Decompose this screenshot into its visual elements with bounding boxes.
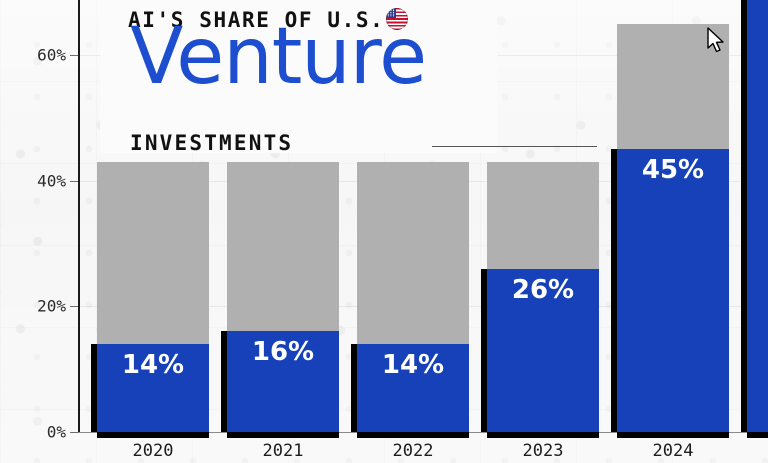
- x-axis-tick-label: 2020: [97, 441, 209, 461]
- title-underline-rule: [432, 146, 597, 147]
- bar-group[interactable]: 16%: [227, 162, 339, 432]
- bar-group[interactable]: 71%: [747, 0, 768, 432]
- bar-value-label: 45%: [617, 155, 729, 185]
- y-axis-line: [78, 0, 80, 433]
- bar-value-label: 14%: [357, 350, 469, 380]
- y-axis-tick-label: 20%: [37, 297, 66, 316]
- bar-value-label: 14%: [97, 350, 209, 380]
- bar-value-label: 16%: [227, 337, 339, 367]
- x-axis-tick-label: 2023: [487, 441, 599, 461]
- bar-ai-segment[interactable]: 14%: [97, 344, 209, 432]
- x-axis-tick-label: 2021: [227, 441, 339, 461]
- y-axis-tick-label: 0%: [47, 423, 66, 442]
- bar-ai-segment[interactable]: 45%: [617, 149, 729, 432]
- title-line-3: INVESTMENTS: [130, 131, 293, 155]
- chart-title-card: AI'S SHARE OF U.S. Venture INVESTMENTS: [100, 0, 497, 153]
- x-axis-tick-label: 2022: [357, 441, 469, 461]
- bar-value-label: 71%: [747, 0, 768, 22]
- bar-ai-segment[interactable]: 14%: [357, 344, 469, 432]
- bar-group[interactable]: 45%: [617, 24, 729, 432]
- bar-ai-segment[interactable]: 26%: [487, 269, 599, 432]
- x-axis-tick-label: Q1 2025: [747, 441, 768, 461]
- y-axis-tick-label: 60%: [37, 46, 66, 65]
- bar-group[interactable]: 14%: [357, 162, 469, 432]
- y-axis-tick-label: 40%: [37, 171, 66, 190]
- bar-ai-segment[interactable]: 16%: [227, 331, 339, 432]
- x-axis-tick-label: 2024: [617, 441, 729, 461]
- bar-value-label: 26%: [487, 275, 599, 305]
- bar-ai-segment[interactable]: 71%: [747, 0, 768, 432]
- bar-group[interactable]: 14%: [97, 162, 209, 432]
- chart-container: 0%20%40%60% 14%16%14%26%45%71% 202020212…: [0, 0, 768, 463]
- title-line-2: Venture: [130, 18, 426, 96]
- x-axis-line: [78, 432, 766, 433]
- bar-group[interactable]: 26%: [487, 162, 599, 432]
